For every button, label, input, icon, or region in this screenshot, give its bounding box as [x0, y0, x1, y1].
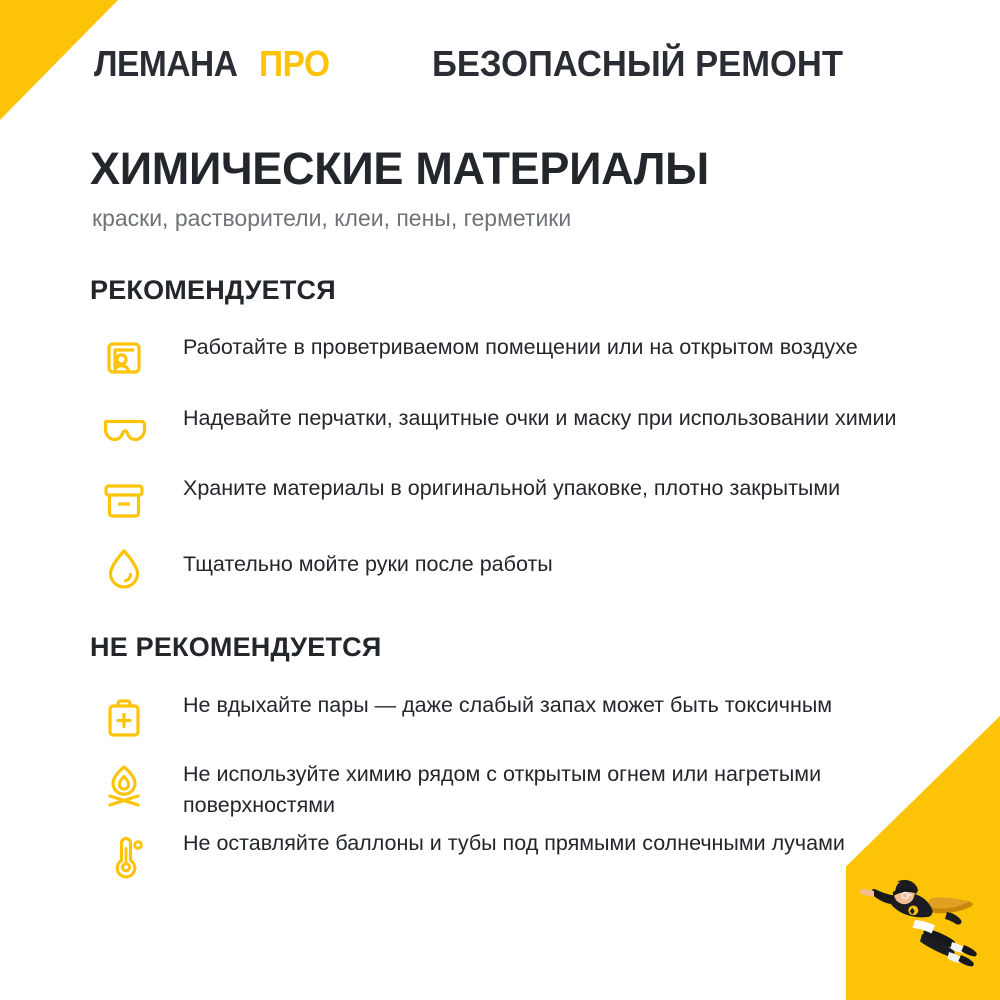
section-heading-recommended: РЕКОМЕНДУЕТСЯ	[90, 274, 336, 306]
water-drop-icon	[97, 541, 151, 595]
poster-canvas: ЛЕМАНА ПРО БЕЗОПАСНЫЙ РЕМОНТ ХИМИЧЕСКИЕ …	[0, 0, 1000, 1000]
page-title: ХИМИЧЕСКИЕ МАТЕРИАЛЫ	[90, 143, 709, 195]
list-item-text: Работайте в проветриваемом помещении или…	[183, 332, 903, 363]
page-subtitle: краски, растворители, клеи, пены, гермет…	[92, 203, 571, 233]
storage-box-icon	[97, 474, 151, 528]
person-in-window-icon	[97, 331, 151, 385]
list-item-text: Надевайте перчатки, защитные очки и маск…	[183, 403, 903, 434]
logo-accent-text: ПРО	[259, 38, 330, 90]
brand-logo: ЛЕМАНА ПРО	[94, 38, 335, 90]
first-aid-kit-icon	[97, 692, 151, 746]
list-item-text: Тщательно мойте руки после работы	[183, 549, 903, 580]
list-item-text: Не оставляйте баллоны и тубы под прямыми…	[183, 828, 903, 859]
thermometer-sun-icon	[97, 829, 151, 883]
campfire-icon	[97, 759, 151, 813]
header-bar: ЛЕМАНА ПРО БЕЗОПАСНЫЙ РЕМОНТ	[0, 38, 1000, 90]
section-heading-not-recommended: НЕ РЕКОМЕНДУЕТСЯ	[90, 631, 381, 663]
logo-main-text: ЛЕМАНА	[94, 38, 237, 90]
list-item-text: Храните материалы в оригинальной упаковк…	[183, 473, 903, 504]
list-item-text: Не вдыхайте пары — даже слабый запах мож…	[183, 690, 903, 721]
safety-goggles-icon	[97, 404, 151, 458]
header-title: БЕЗОПАСНЫЙ РЕМОНТ	[432, 38, 843, 90]
flying-superhero-mascot	[852, 860, 1000, 980]
list-item-text: Не используйте химию рядом с открытым ог…	[183, 759, 903, 821]
